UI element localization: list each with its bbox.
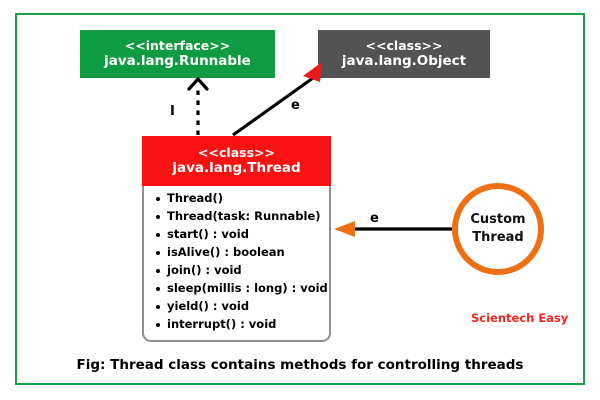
list-item: interrupt() : void: [152, 319, 323, 331]
edge-label-extends-thread: e: [370, 211, 379, 226]
edge-label-implements: I: [170, 104, 175, 119]
list-item: Thread(): [152, 193, 323, 205]
list-item: join() : void: [152, 265, 323, 277]
thread-member-panel: Thread() Thread(task: Runnable) start() …: [142, 186, 331, 342]
thread-member-list: Thread() Thread(task: Runnable) start() …: [152, 193, 323, 331]
watermark: Scientech Easy: [471, 311, 568, 325]
runnable-stereotype: <<interface>>: [125, 38, 230, 54]
class-box-runnable[interactable]: <<interface>> java.lang.Runnable: [80, 30, 275, 78]
diagram-canvas: <<interface>> java.lang.Runnable <<class…: [0, 0, 600, 400]
runnable-typename: java.lang.Runnable: [104, 53, 251, 70]
figure-caption: Fig: Thread class contains methods for c…: [0, 357, 600, 373]
object-stereotype: <<class>>: [366, 38, 443, 54]
class-box-thread[interactable]: <<class>> java.lang.Thread Thread() Thre…: [142, 136, 331, 342]
thread-header: <<class>> java.lang.Thread: [142, 136, 331, 186]
list-item: yield() : void: [152, 301, 323, 313]
list-item: Thread(task: Runnable): [152, 211, 323, 223]
thread-typename: java.lang.Thread: [172, 160, 300, 177]
edge-label-extends-object: e: [291, 98, 300, 113]
custom-thread-line1: Custom: [470, 211, 525, 229]
list-item: sleep(millis : long) : void: [152, 283, 323, 295]
custom-thread-line2: Thread: [472, 229, 523, 247]
list-item: isAlive() : boolean: [152, 247, 323, 259]
node-custom-thread[interactable]: Custom Thread: [452, 183, 544, 275]
list-item: start() : void: [152, 229, 323, 241]
thread-stereotype: <<class>>: [198, 145, 275, 161]
object-typename: java.lang.Object: [342, 53, 466, 70]
class-box-object[interactable]: <<class>> java.lang.Object: [318, 30, 490, 78]
